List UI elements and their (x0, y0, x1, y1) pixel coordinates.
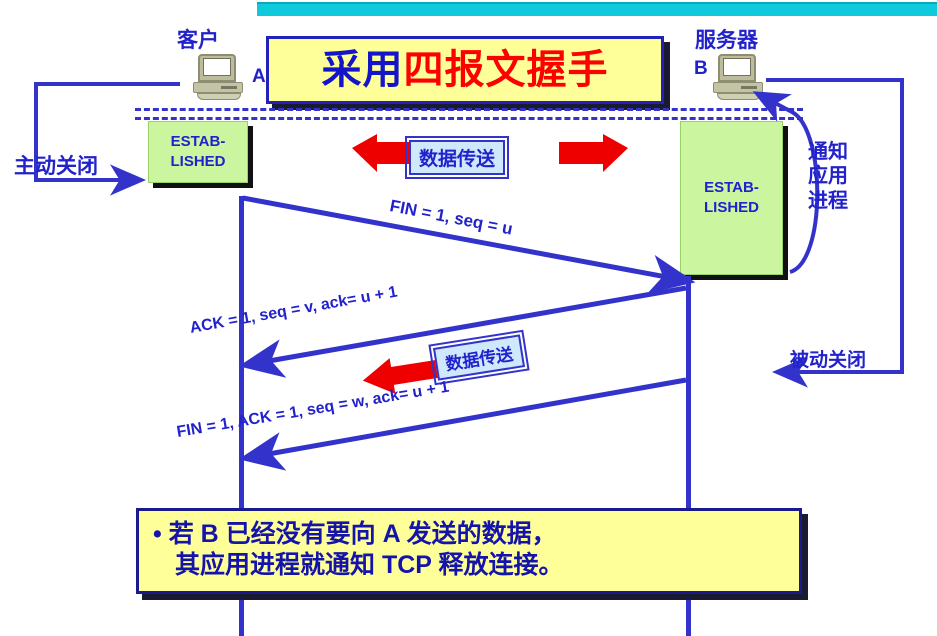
note-notify-line1: 通知 (808, 140, 848, 164)
note-active-close: 主动关闭 (14, 150, 98, 180)
bottom-callout: • 若 B 已经没有要向 A 发送的数据， 其应用进程就通知 TCP 释放连接。 (136, 508, 802, 594)
slide-canvas: 采用四报文握手 客户 A 服务器 B ESTAB- LISHED ESTAB- … (0, 0, 937, 636)
passive-close-bracket-arrow (766, 80, 902, 372)
note-notify-application: 通知 应用 进程 (808, 140, 848, 213)
note-notify-line2: 应用 (808, 164, 848, 188)
note-passive-close: 被动关闭 (790, 345, 866, 372)
note-notify-line3: 进程 (808, 189, 848, 213)
callout-bullet: • (153, 520, 162, 548)
data-transfer-tag-top: 数据传送 (409, 140, 505, 175)
callout-line-1: • 若 B 已经没有要向 A 发送的数据， (153, 519, 789, 550)
callout-text-2: 其应用进程就通知 TCP 释放连接。 (153, 550, 789, 581)
callout-text-1: 若 B 已经没有要向 A 发送的数据， (169, 520, 557, 548)
